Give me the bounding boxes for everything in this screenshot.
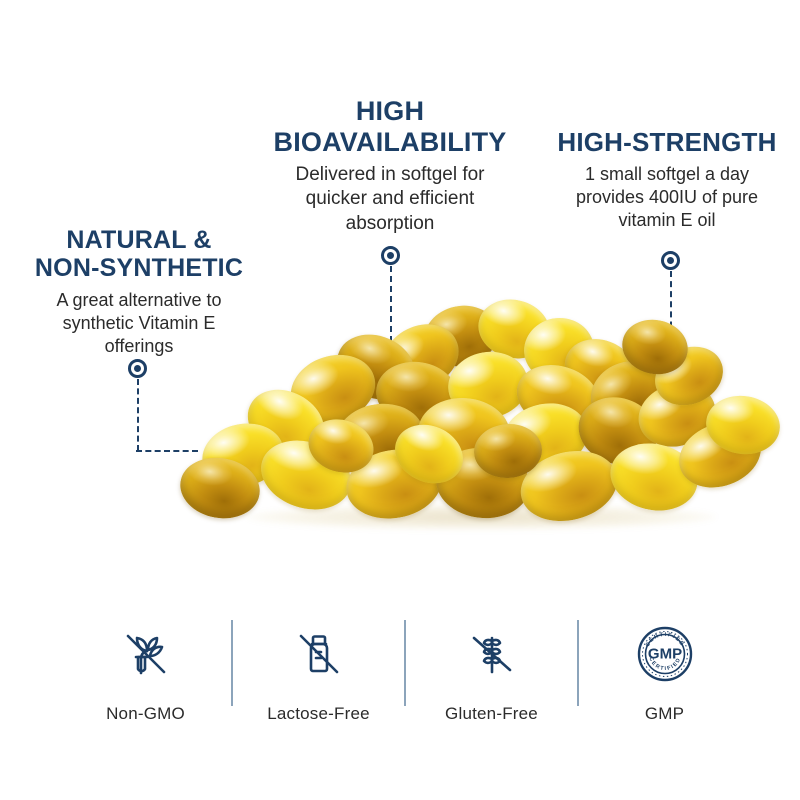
badge-lactose-free: Lactose-Free bbox=[233, 618, 404, 724]
target-marker-bioavailability-icon bbox=[381, 246, 400, 265]
callout-bioavailability-body: Delivered in softgel for quicker and eff… bbox=[248, 163, 532, 236]
badge-label-gluten-free: Gluten-Free bbox=[445, 704, 538, 724]
badge-label-non-gmo: Non-GMO bbox=[106, 704, 185, 724]
callout-high-bioavailability: HIGH BIOAVAILABILITY Delivered in softge… bbox=[248, 96, 532, 236]
callout-high-strength: HIGH-STRENGTH 1 small softgel a day prov… bbox=[536, 128, 798, 232]
milk-carton-slash-icon bbox=[290, 618, 348, 690]
callout-strength-body: 1 small softgel a day provides 400IU of … bbox=[536, 163, 798, 232]
gmp-seal-center-text: GMP bbox=[647, 646, 681, 663]
badge-non-gmo: Non-GMO bbox=[60, 618, 231, 724]
infographic-canvas: NATURAL & NON-SYNTHETIC A great alternat… bbox=[0, 0, 800, 800]
badge-label-gmp: GMP bbox=[645, 704, 684, 724]
gmp-certified-seal-icon: CERTIFIED CERTIFIED GMP bbox=[635, 618, 695, 690]
certification-badge-row: Non-GMO Lactose-Free bbox=[60, 618, 750, 743]
target-marker-natural-icon bbox=[128, 359, 147, 378]
leader-line-natural-vertical bbox=[137, 379, 139, 451]
target-marker-strength-icon bbox=[661, 251, 680, 270]
callout-strength-title: HIGH-STRENGTH bbox=[536, 128, 798, 157]
softgel-capsule-pile bbox=[186, 300, 786, 540]
plant-test-tube-slash-icon bbox=[117, 618, 175, 690]
callout-bioavailability-title: HIGH BIOAVAILABILITY bbox=[248, 96, 532, 157]
wheat-slash-icon bbox=[463, 618, 521, 690]
badge-gluten-free: Gluten-Free bbox=[406, 618, 577, 724]
callout-natural-title: NATURAL & NON-SYNTHETIC bbox=[8, 226, 270, 283]
badge-gmp: CERTIFIED CERTIFIED GMP GMP bbox=[579, 618, 750, 724]
badge-label-lactose-free: Lactose-Free bbox=[267, 704, 370, 724]
